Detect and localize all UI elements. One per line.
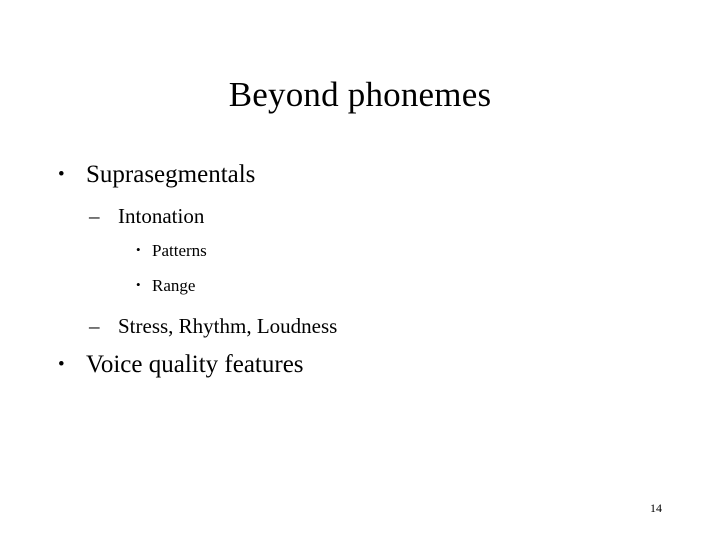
- bullet-item-stress-rhythm-loudness: – Stress, Rhythm, Loudness: [0, 313, 720, 350]
- dot-bullet-icon: •: [58, 160, 86, 190]
- slide-title: Beyond phonemes: [0, 74, 720, 116]
- page-number: 14: [650, 501, 662, 515]
- bullet-text: Intonation: [118, 203, 204, 229]
- dot-bullet-icon: •: [136, 274, 152, 295]
- bullet-item-suprasegmentals: • Suprasegmentals: [0, 160, 720, 203]
- slide: Beyond phonemes • Suprasegmentals – Into…: [0, 0, 720, 540]
- dash-bullet-icon: –: [89, 203, 118, 229]
- slide-body-list: • Suprasegmentals – Intonation • Pattern…: [0, 160, 720, 393]
- bullet-text: Patterns: [152, 240, 207, 261]
- bullet-item-voice-quality-features: • Voice quality features: [0, 350, 720, 393]
- bullet-text: Suprasegmentals: [86, 160, 255, 190]
- dot-bullet-icon: •: [58, 350, 86, 380]
- bullet-item-range: • Range: [0, 275, 720, 310]
- bullet-item-intonation: – Intonation: [0, 203, 720, 240]
- dot-bullet-icon: •: [136, 239, 152, 260]
- bullet-text: Range: [152, 275, 195, 296]
- bullet-item-patterns: • Patterns: [0, 240, 720, 275]
- dash-bullet-icon: –: [89, 313, 118, 339]
- bullet-text: Voice quality features: [86, 350, 304, 380]
- bullet-text: Stress, Rhythm, Loudness: [118, 313, 337, 339]
